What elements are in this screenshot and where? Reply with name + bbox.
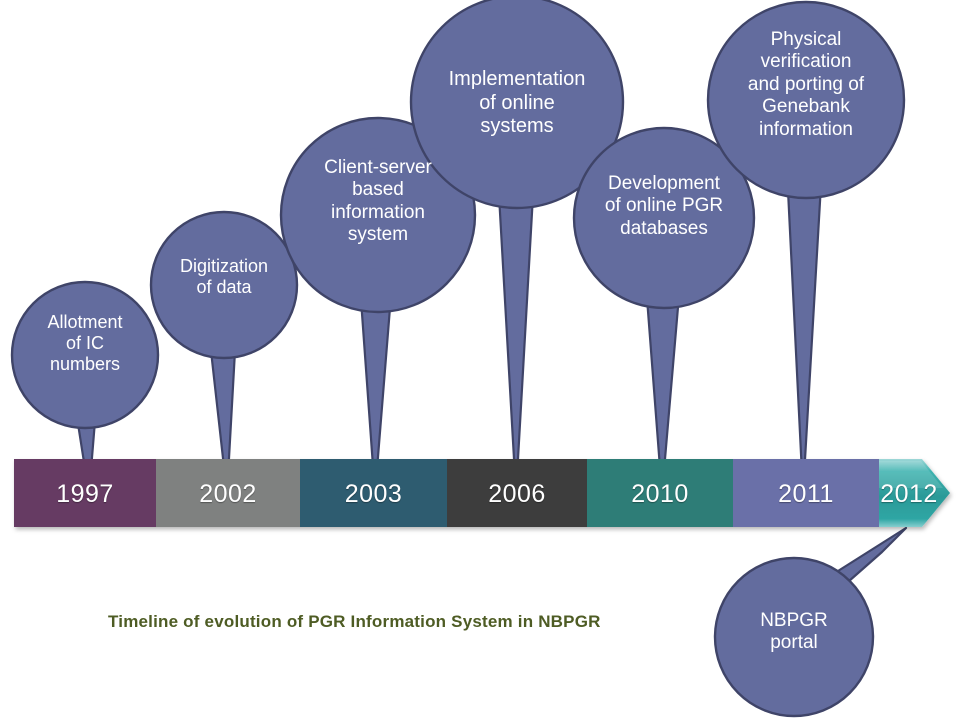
diagram-caption: Timeline of evolution of PGR Information…	[108, 612, 601, 632]
bubble-2002[interactable]	[151, 212, 297, 358]
segment-2006[interactable]	[447, 459, 587, 527]
segment-2002[interactable]	[156, 459, 300, 527]
tail-2006	[497, 160, 535, 494]
pointer-tails	[68, 150, 906, 596]
bubble-2012[interactable]	[715, 558, 873, 716]
bubble-2011[interactable]	[708, 2, 904, 198]
segment-2010[interactable]	[587, 459, 733, 527]
segment-2003[interactable]	[300, 459, 447, 527]
timeline-diagram: Allotment of IC numbers Digitization of …	[0, 0, 960, 720]
segment-2011[interactable]	[733, 459, 879, 527]
segment-1997[interactable]	[14, 459, 156, 527]
milestone-bubbles	[12, 0, 904, 716]
timeline-bar	[14, 459, 950, 527]
tail-2011	[786, 150, 823, 494]
bubble-1997[interactable]	[12, 282, 158, 428]
